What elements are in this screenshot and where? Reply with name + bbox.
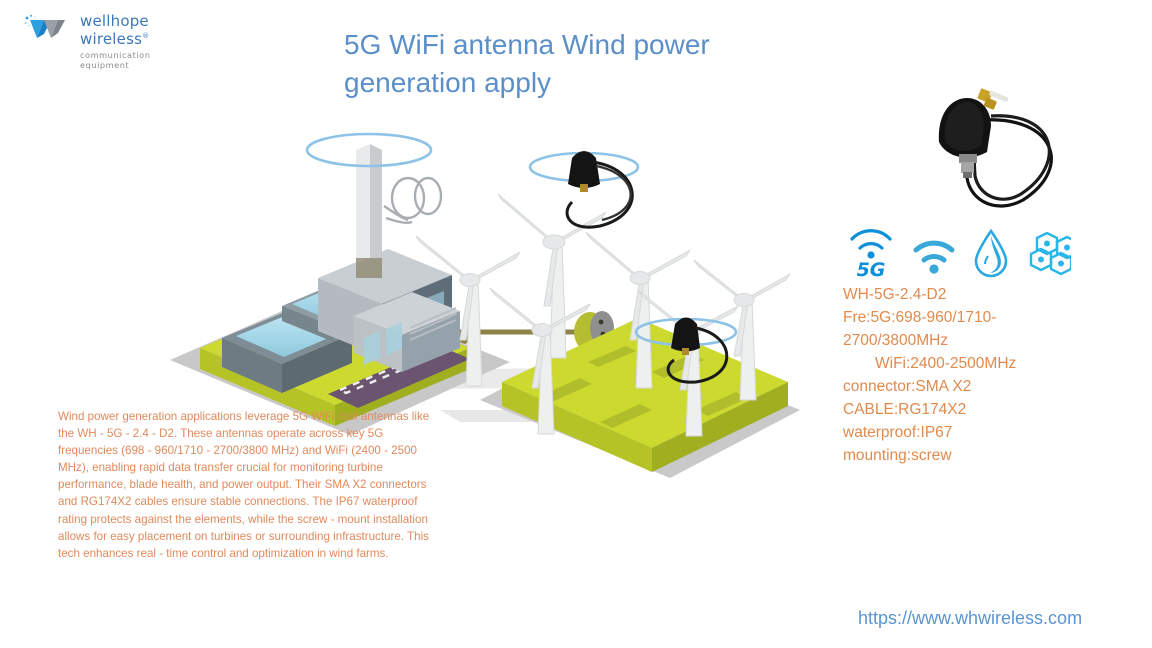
website-url[interactable]: https://www.whwireless.com — [858, 608, 1082, 629]
brand-logo: wellhope wireless® communication equipme… — [24, 10, 194, 48]
windfarm-antenna-1 — [530, 151, 638, 227]
spec-model: WH-5G-2.4-D2 — [843, 283, 1143, 306]
spec-waterproof: waterproof:IP67 — [843, 421, 1143, 444]
wellhope-w-logo-icon — [24, 14, 74, 44]
spec-cable: CABLE:RG174X2 — [843, 398, 1143, 421]
waterproof-drop-icon — [971, 228, 1011, 278]
spec-frequency-line2: 2700/3800MHz — [843, 329, 1143, 352]
spec-wifi: WiFi:2400-2500MHz — [843, 352, 1143, 375]
wifi-icon — [911, 236, 957, 278]
feature-icon-row: 5G — [845, 222, 1071, 278]
registered-mark: ® — [142, 32, 149, 40]
brand-name: wellhope wireless® — [80, 12, 194, 48]
rooftop-antenna — [307, 134, 441, 278]
product-specs: WH-5G-2.4-D2 Fre:5G:698-960/1710- 2700/3… — [843, 283, 1143, 467]
description-paragraph: Wind power generation applications lever… — [58, 408, 430, 562]
product-photo — [905, 82, 1085, 217]
svg-text:5G: 5G — [857, 259, 886, 278]
spec-frequency-line1: Fre:5G:698-960/1710- — [843, 306, 1143, 329]
city-rooftop-antenna-scene — [170, 134, 510, 435]
brand-name-text: wellhope wireless — [80, 12, 149, 48]
brand-logo-text: wellhope wireless® communication equipme… — [80, 12, 194, 70]
spec-connector: connector:SMA X2 — [843, 375, 1143, 398]
poster-page: wellhope wireless® communication equipme… — [0, 0, 1152, 648]
screw-hex-icon — [1025, 232, 1071, 278]
5g-signal-icon: 5G — [845, 222, 897, 278]
page-title: 5G WiFi antenna Wind power generation ap… — [344, 26, 784, 102]
brand-tagline: communication equipment — [80, 50, 194, 70]
spec-mounting: mounting:screw — [843, 444, 1143, 467]
